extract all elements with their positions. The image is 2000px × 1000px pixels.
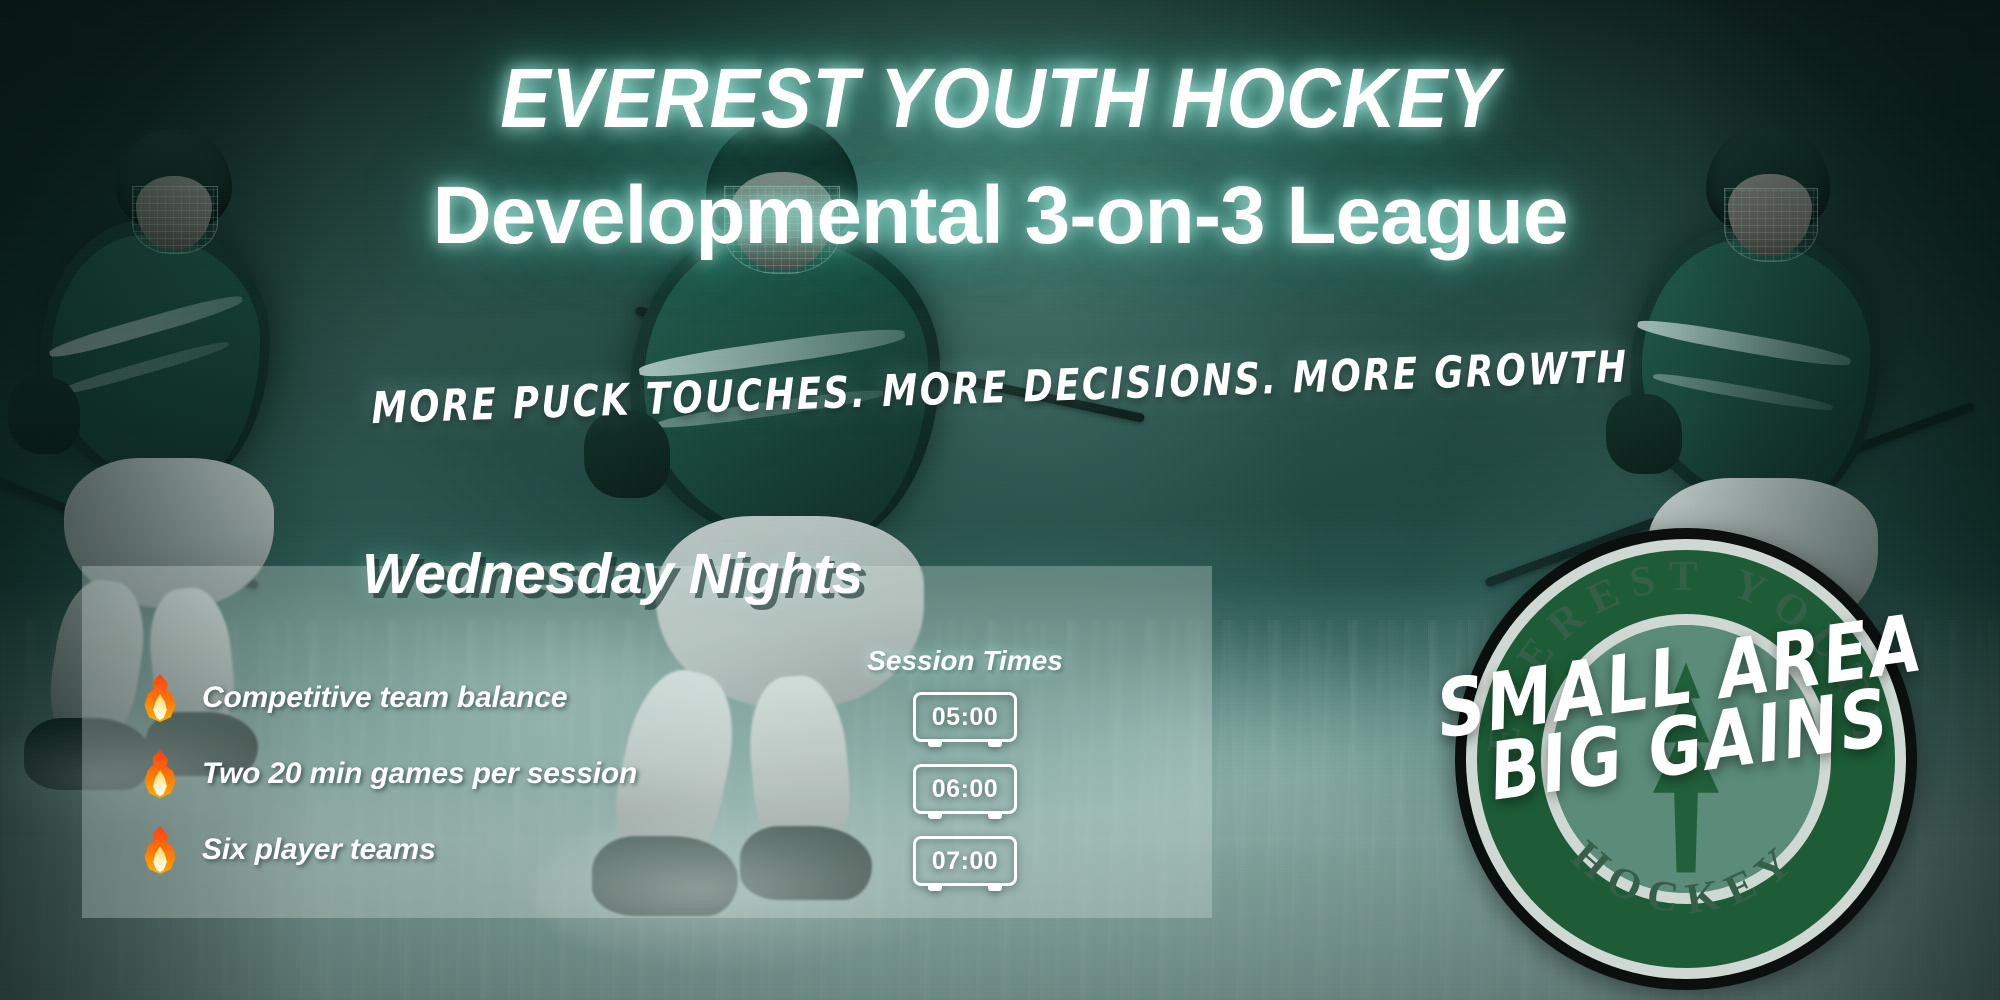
session-times-heading: Session Times — [860, 645, 1070, 677]
page-subtitle: Developmental 3-on-3 League — [0, 170, 2000, 262]
list-item: Six player teams — [140, 812, 700, 888]
clock-icon: 05:00 — [913, 692, 1017, 742]
fire-icon — [140, 672, 180, 724]
feature-label: Six player teams — [202, 833, 436, 867]
poster-canvas: EVEREST YOUTH HOCKEY Developmental 3-on-… — [0, 0, 2000, 1000]
list-item: Competitive team balance — [140, 660, 700, 736]
clock-icon: 06:00 — [913, 764, 1017, 814]
logo-arc-text: EVEREST YOUTH HOCKEY — [1455, 528, 1917, 990]
feature-list: Competitive team balance Two 20 min game… — [140, 660, 700, 888]
page-title: EVEREST YOUTH HOCKEY — [100, 56, 1900, 140]
session-time-value: 07:00 — [932, 847, 998, 876]
schedule-heading: Wednesday Nights — [362, 541, 863, 607]
session-times-list: 05:00 06:00 07:00 — [860, 692, 1070, 886]
logo-badge: EVEREST YOUTH HOCKEY SMALL AREA BIG GAIN… — [1455, 528, 1917, 990]
logo-arc-bottom-text: HOCKEY — [1562, 832, 1809, 924]
logo-arc-top-text: EVEREST YOUTH — [1479, 553, 1893, 757]
fire-icon — [140, 824, 180, 876]
feature-label: Competitive team balance — [202, 681, 567, 715]
feature-label: Two 20 min games per session — [202, 757, 637, 791]
session-time-value: 06:00 — [932, 775, 998, 804]
clock-icon: 07:00 — [913, 836, 1017, 886]
fire-icon — [140, 748, 180, 800]
session-time-value: 05:00 — [932, 703, 998, 732]
list-item: Two 20 min games per session — [140, 736, 700, 812]
